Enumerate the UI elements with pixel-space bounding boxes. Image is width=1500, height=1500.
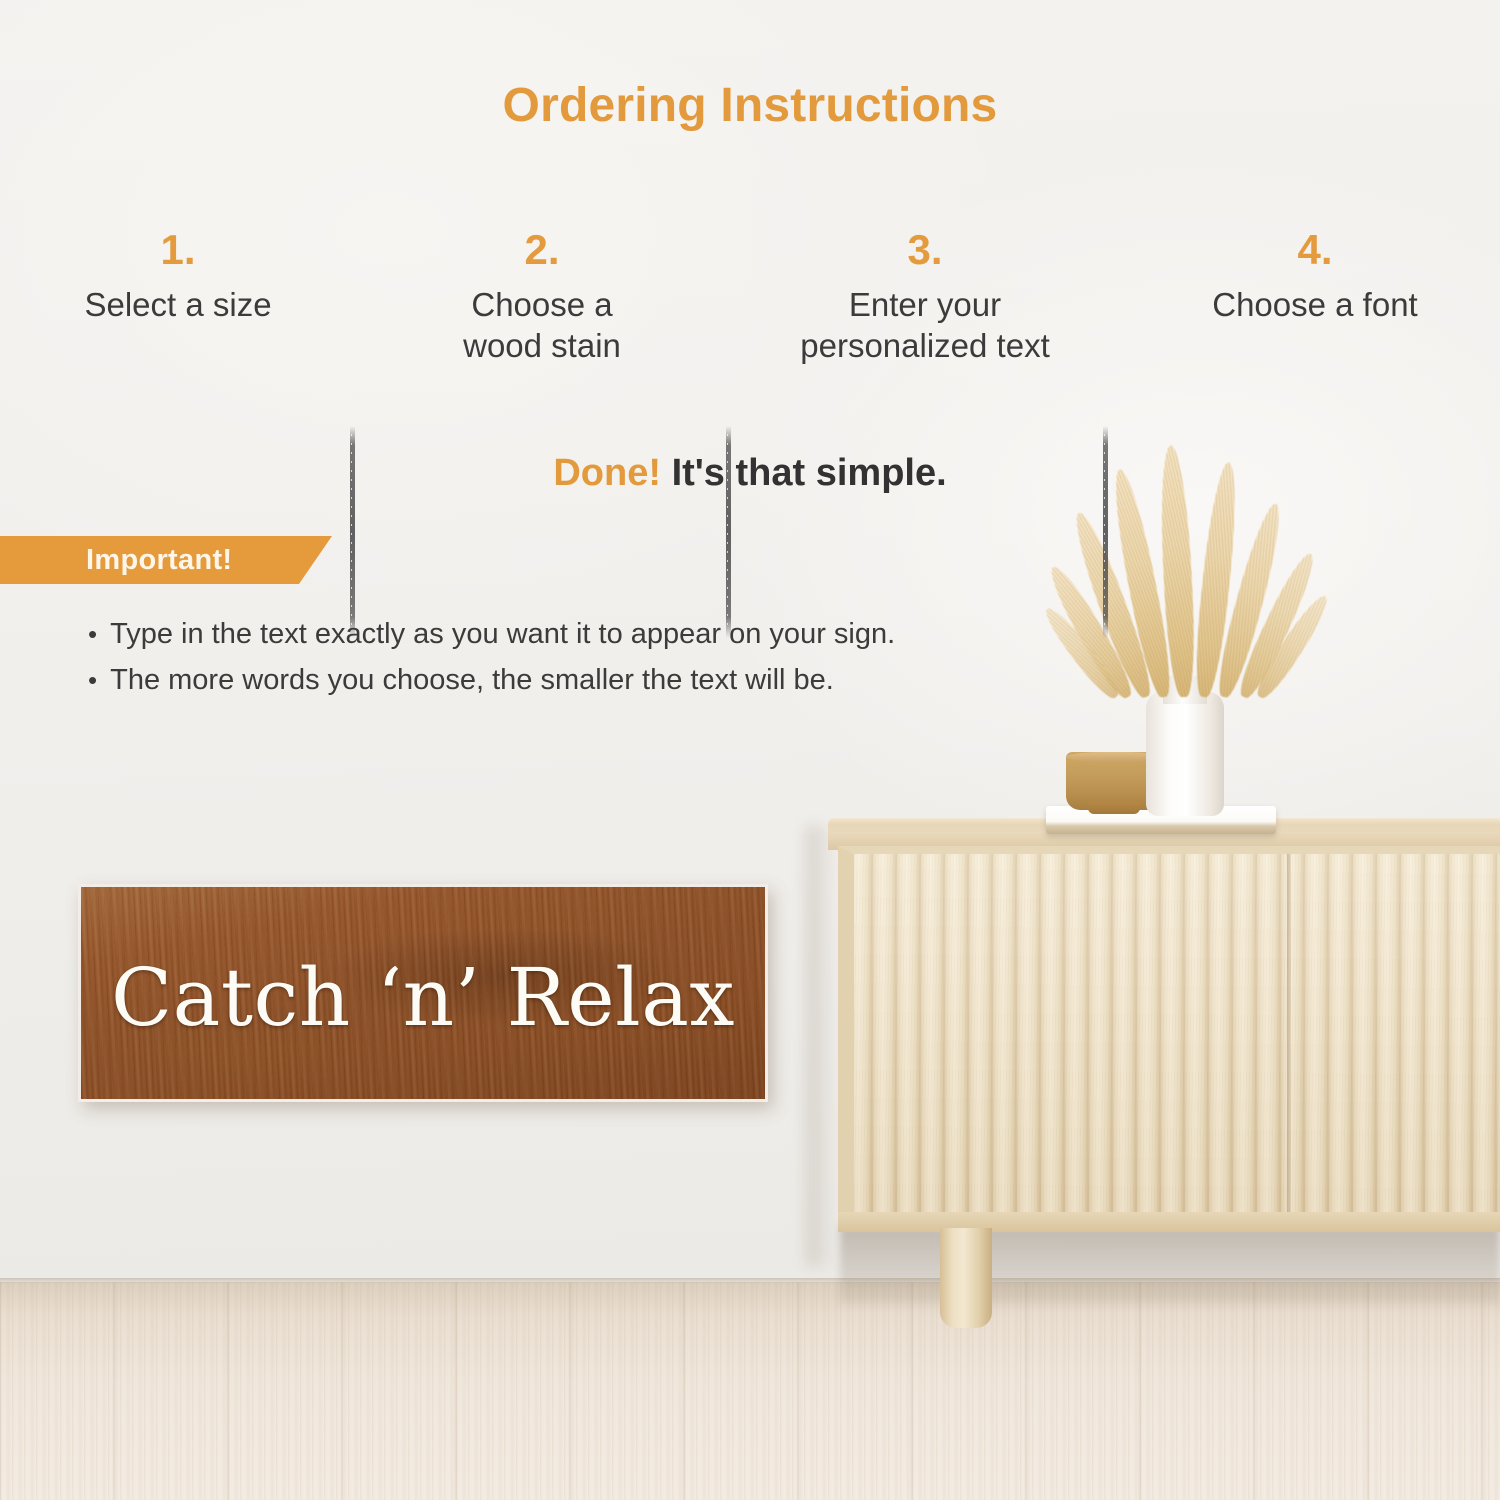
step-1-number: 1.: [18, 228, 338, 272]
bullet-icon: •: [88, 658, 97, 703]
page-title: Ordering Instructions: [0, 78, 1500, 133]
step-3-number: 3.: [760, 228, 1090, 272]
done-tagline: Done! It's that simple.: [0, 452, 1500, 495]
step-4-label: Choose a font: [1155, 284, 1475, 325]
step-1-label: Select a size: [18, 284, 338, 325]
done-rest: It's that simple.: [672, 452, 947, 494]
note-text: The more words you choose, the smaller t…: [110, 658, 834, 704]
step-4: 4. Choose a font: [1155, 228, 1475, 325]
step-3: 3. Enter yourpersonalized text: [760, 228, 1090, 367]
step-2: 2. Choose awood stain: [392, 228, 692, 367]
steps-row: 1. Select a size 2. Choose awood stain 3…: [0, 228, 1500, 418]
step-2-number: 2.: [392, 228, 692, 272]
step-2-label: Choose awood stain: [392, 284, 692, 367]
list-item: • Type in the text exactly as you want i…: [88, 612, 1188, 658]
bullet-icon: •: [88, 612, 97, 657]
done-highlight: Done!: [553, 452, 661, 494]
instructions-overlay: Ordering Instructions 1. Select a size 2…: [0, 0, 1500, 1500]
important-ribbon-label: Important!: [86, 544, 232, 577]
note-text: Type in the text exactly as you want it …: [110, 612, 895, 658]
step-4-number: 4.: [1155, 228, 1475, 272]
important-notes-list: • Type in the text exactly as you want i…: [88, 612, 1188, 704]
step-3-label: Enter yourpersonalized text: [760, 284, 1090, 367]
step-1: 1. Select a size: [18, 228, 338, 325]
list-item: • The more words you choose, the smaller…: [88, 658, 1188, 704]
important-ribbon: Important!: [0, 536, 332, 584]
